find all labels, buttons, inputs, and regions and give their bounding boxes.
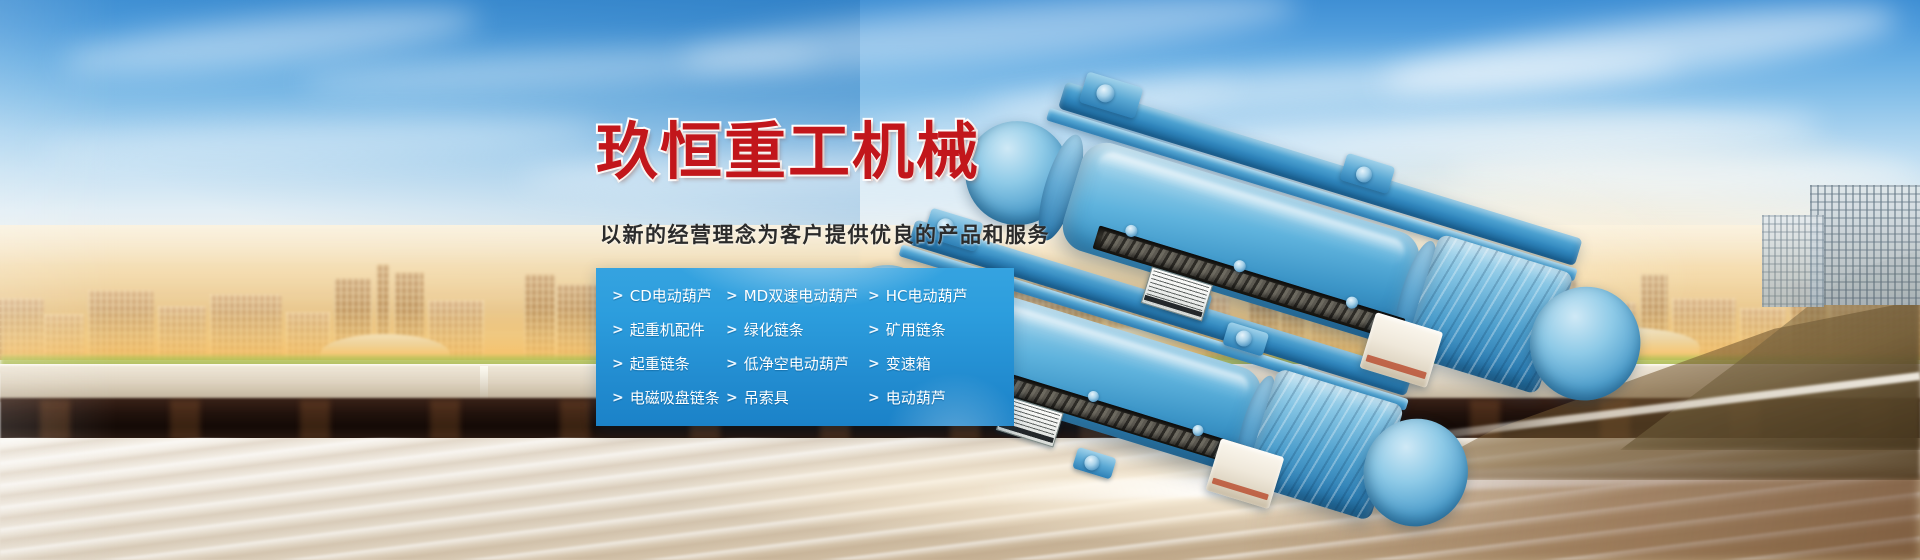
product-link[interactable]: >绿化链条 — [726, 316, 868, 344]
product-link-label: 低净空电动葫芦 — [744, 355, 849, 373]
product-link[interactable]: >低净空电动葫芦 — [726, 350, 868, 378]
product-list-box: >CD电动葫芦>MD双速电动葫芦>HC电动葫芦>起重机配件>绿化链条>矿用链条>… — [596, 268, 1014, 426]
promotional-banner: 玖恒重工机械 以新的经营理念为客户提供优良的产品和服务 >CD电动葫芦>MD双速… — [0, 0, 1920, 560]
chevron-right-icon: > — [612, 355, 624, 373]
chevron-right-icon: > — [726, 389, 738, 407]
product-link[interactable]: >HC电动葫芦 — [868, 282, 1014, 310]
chevron-right-icon: > — [868, 389, 880, 407]
chevron-right-icon: > — [726, 287, 738, 305]
product-link[interactable]: >矿用链条 — [868, 316, 1014, 344]
product-link[interactable]: >变速箱 — [868, 350, 1014, 378]
chevron-right-icon: > — [726, 321, 738, 339]
product-link[interactable]: >电磁吸盘链条 — [612, 384, 726, 412]
product-link[interactable]: >MD双速电动葫芦 — [726, 282, 868, 310]
product-link-label: 起重机配件 — [630, 321, 705, 339]
product-link-label: 起重链条 — [630, 355, 690, 373]
product-link-label: 矿用链条 — [886, 321, 946, 339]
product-link-label: 电动葫芦 — [886, 389, 946, 407]
product-link-label: HC电动葫芦 — [886, 287, 968, 305]
banner-headline: 玖恒重工机械 — [596, 120, 980, 184]
product-link-label: CD电动葫芦 — [630, 287, 712, 305]
product-link[interactable]: >起重链条 — [612, 350, 726, 378]
product-link-label: 吊索具 — [744, 389, 789, 407]
banner-subheadline: 以新的经营理念为客户提供优良的产品和服务 — [600, 222, 1050, 248]
chevron-right-icon: > — [868, 355, 880, 373]
product-list-grid: >CD电动葫芦>MD双速电动葫芦>HC电动葫芦>起重机配件>绿化链条>矿用链条>… — [596, 268, 1014, 426]
product-link-label: 绿化链条 — [744, 321, 804, 339]
chevron-right-icon: > — [726, 355, 738, 373]
product-link-label: 电磁吸盘链条 — [630, 389, 720, 407]
product-link[interactable]: >吊索具 — [726, 384, 868, 412]
chevron-right-icon: > — [868, 321, 880, 339]
product-link-label: MD双速电动葫芦 — [744, 287, 859, 305]
product-link[interactable]: >CD电动葫芦 — [612, 282, 726, 310]
product-link[interactable]: >起重机配件 — [612, 316, 726, 344]
chevron-right-icon: > — [612, 321, 624, 339]
product-link-label: 变速箱 — [886, 355, 931, 373]
product-link[interactable]: >电动葫芦 — [868, 384, 1014, 412]
chevron-right-icon: > — [868, 287, 880, 305]
chevron-right-icon: > — [612, 389, 624, 407]
banner-copy: 玖恒重工机械 以新的经营理念为客户提供优良的产品和服务 >CD电动葫芦>MD双速… — [0, 0, 1920, 560]
chevron-right-icon: > — [612, 287, 624, 305]
